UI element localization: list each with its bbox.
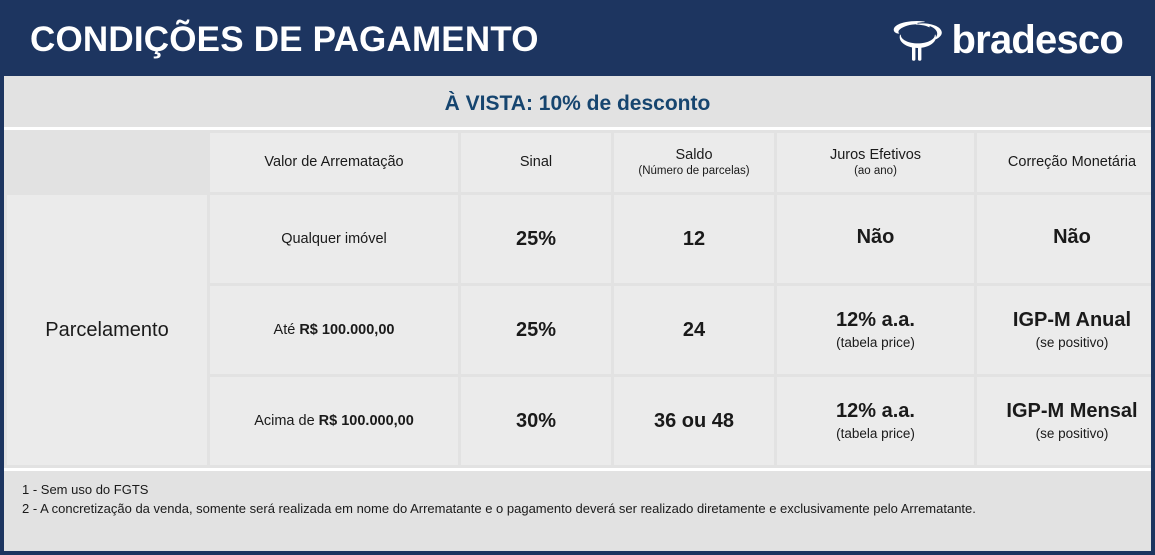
discount-text: À VISTA: 10% de desconto <box>445 92 711 116</box>
cell-juros-1: 12% a.a. (tabela price) <box>777 286 974 374</box>
column-header-saldo-sub: (Número de parcelas) <box>618 165 770 178</box>
discount-banner: À VISTA: 10% de desconto <box>4 80 1151 130</box>
cell-juros-value-1: 12% a.a. <box>836 309 915 331</box>
cell-correcao-note-2: (se positivo) <box>981 426 1155 442</box>
page-title: CONDIÇÕES DE PAGAMENTO <box>30 20 539 60</box>
cell-correcao-note-1: (se positivo) <box>981 335 1155 351</box>
cell-valor-prefix-0: Qualquer imóvel <box>281 231 387 247</box>
cell-saldo-1: 24 <box>614 286 774 374</box>
column-header-saldo-label: Saldo <box>675 147 712 163</box>
brand-name: bradesco <box>952 20 1123 60</box>
column-header-sinal-label: Sinal <box>520 154 552 170</box>
column-header-valor-label: Valor de Arrematação <box>264 154 403 170</box>
cell-saldo-0: 12 <box>614 195 774 283</box>
column-header-correcao: Correção Monetária <box>977 133 1155 192</box>
cell-saldo-2: 36 ou 48 <box>614 377 774 465</box>
column-header-juros-sub: (ao ano) <box>781 165 970 178</box>
category-cell-parcelamento: Parcelamento <box>7 195 207 465</box>
footnotes: 1 - Sem uso do FGTS 2 - A concretização … <box>4 468 1151 527</box>
cell-valor-amount-2: R$ 100.000,00 <box>319 413 414 429</box>
payment-conditions-card: CONDIÇÕES DE PAGAMENTO bradesco <box>0 0 1155 555</box>
cell-juros-2: 12% a.a. (tabela price) <box>777 377 974 465</box>
column-header-juros-label: Juros Efetivos <box>830 147 921 163</box>
column-header-sinal: Sinal <box>461 133 611 192</box>
column-header-juros: Juros Efetivos (ao ano) <box>777 133 974 192</box>
header-corner-spacer <box>7 133 207 192</box>
conditions-table: Valor de Arrematação Sinal Saldo (Número… <box>4 130 1155 468</box>
cell-correcao-1: IGP-M Anual (se positivo) <box>977 286 1155 374</box>
cell-valor-amount-1: R$ 100.000,00 <box>299 322 394 338</box>
cell-valor-prefix-2: Acima de <box>254 413 318 429</box>
cell-valor-prefix-1: Até <box>274 322 300 338</box>
footnote-2: 2 - A concretização da venda, somente se… <box>22 500 1151 519</box>
cell-sinal-2: 30% <box>461 377 611 465</box>
cell-valor-1: Até R$ 100.000,00 <box>210 286 458 374</box>
column-header-valor: Valor de Arrematação <box>210 133 458 192</box>
table-header-row: Valor de Arrematação Sinal Saldo (Número… <box>7 133 1155 192</box>
column-header-correcao-label: Correção Monetária <box>1008 154 1136 170</box>
cell-correcao-value-1: IGP-M Anual <box>1013 309 1131 331</box>
cell-valor-0: Qualquer imóvel <box>210 195 458 283</box>
cell-juros-note-1: (tabela price) <box>781 335 970 351</box>
cell-correcao-2: IGP-M Mensal (se positivo) <box>977 377 1155 465</box>
conditions-table-wrapper: Valor de Arrematação Sinal Saldo (Número… <box>4 130 1151 468</box>
cell-correcao-value-2: IGP-M Mensal <box>1006 400 1137 422</box>
card-header: CONDIÇÕES DE PAGAMENTO bradesco <box>4 4 1151 80</box>
cell-sinal-1: 25% <box>461 286 611 374</box>
column-header-saldo: Saldo (Número de parcelas) <box>614 133 774 192</box>
cell-correcao-0: Não <box>977 195 1155 283</box>
cell-juros-value-2: 12% a.a. <box>836 400 915 422</box>
bradesco-tree-icon <box>891 16 943 64</box>
bradesco-logo: bradesco <box>891 16 1129 64</box>
category-label: Parcelamento <box>45 319 168 341</box>
cell-juros-value-0: Não <box>857 226 895 248</box>
cell-sinal-0: 25% <box>461 195 611 283</box>
cell-juros-note-2: (tabela price) <box>781 426 970 442</box>
table-row: Parcelamento Qualquer imóvel 25% 12 Não … <box>7 195 1155 283</box>
cell-juros-0: Não <box>777 195 974 283</box>
footnote-1: 1 - Sem uso do FGTS <box>22 481 1151 500</box>
cell-correcao-value-0: Não <box>1053 226 1091 248</box>
cell-valor-2: Acima de R$ 100.000,00 <box>210 377 458 465</box>
